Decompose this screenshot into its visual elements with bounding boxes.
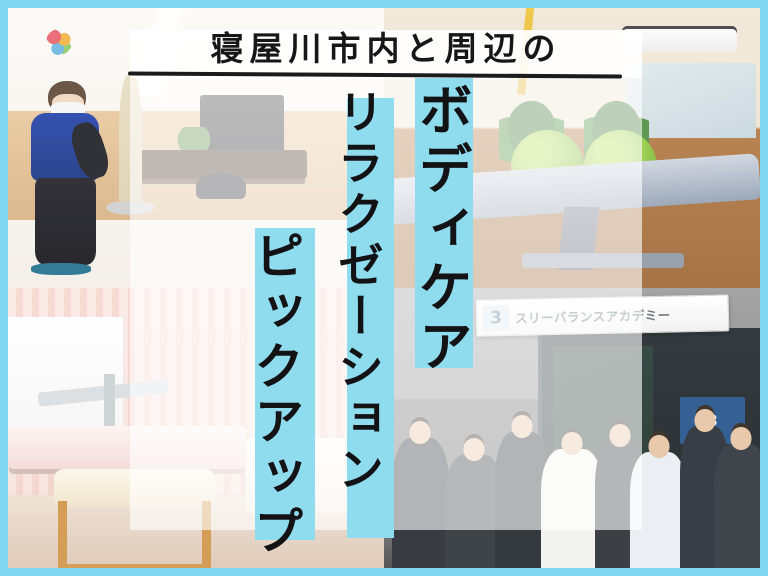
staff-member — [392, 438, 450, 576]
massage-table-base — [522, 253, 683, 267]
staff-member — [541, 449, 602, 576]
vertical-text-relaxation: リラクゼーション — [335, 88, 381, 496]
banner-image: 3 スリーバランスアカデミー 3 寝屋川市内と周辺の ボディケア リラクゼーショ… — [0, 0, 768, 576]
rolling-stool — [196, 173, 246, 199]
staff-person — [23, 81, 107, 271]
person-shoes — [31, 263, 90, 274]
treatment-bed — [8, 426, 246, 469]
page-title: 寝屋川市内と周辺の — [130, 28, 642, 69]
wall-decoration — [46, 29, 72, 55]
staff-member — [630, 452, 688, 576]
vertical-text-pickup: ピックアップ — [250, 230, 300, 560]
vertical-text-body-care: ボディケア — [414, 82, 468, 377]
skeleton-stand — [102, 202, 160, 216]
skeleton-model — [119, 75, 142, 213]
wooden-stool-frame — [58, 501, 212, 573]
person-legs — [35, 178, 96, 265]
photo-treatment-room — [0, 288, 384, 576]
staff-member — [714, 444, 768, 576]
